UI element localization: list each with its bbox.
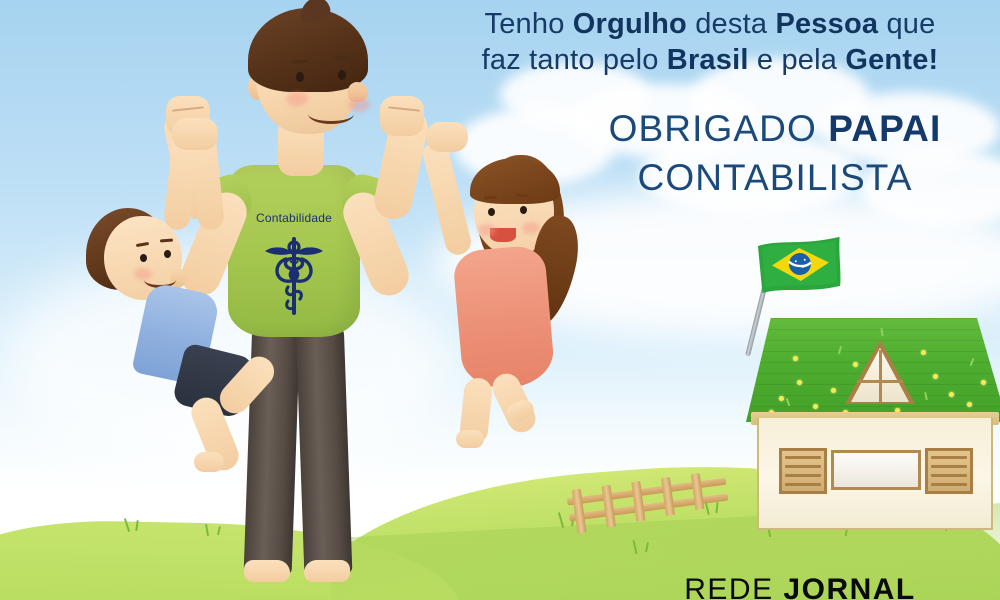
girl-foot-left — [456, 430, 484, 448]
subheadline-text: OBRIGADO PAPAI CONTABILISTA — [560, 104, 990, 202]
boy-blush — [134, 268, 152, 280]
girl-blush-left — [478, 224, 496, 236]
headline-line-2: faz tanto pelo Brasil e pela Gente! — [430, 42, 990, 78]
roof-flower — [981, 380, 986, 385]
roof-flower — [949, 392, 954, 397]
roof-flower — [793, 356, 798, 361]
father-mouth — [308, 104, 354, 124]
girl-blush-right — [522, 222, 540, 234]
shutter-slat — [931, 474, 967, 477]
headline-l1-bold-orgulho: Orgulho — [573, 8, 687, 40]
roof-flower — [967, 402, 972, 407]
father-blush-right — [348, 98, 370, 112]
headline-line-1: Tenho Orgulho desta Pessoa que — [430, 6, 990, 42]
father-leg-right — [296, 321, 353, 575]
headline-l1-bold-pessoa: Pessoa — [775, 8, 878, 40]
headline-l1-seg1: Tenho — [485, 8, 573, 40]
roof-flower — [853, 362, 858, 367]
headline-l1-seg2: desta — [687, 8, 775, 40]
father-eye-right — [338, 70, 346, 80]
family-illustration: Contabilidade — [60, 0, 550, 600]
house-shutter-left — [779, 448, 827, 494]
shutter-slat — [931, 483, 967, 486]
house-main-window — [831, 450, 921, 490]
girl-eye-right — [520, 206, 527, 214]
shutter-slat — [785, 474, 821, 477]
boy-eye-right — [164, 250, 171, 258]
caduceus-accounting-icon — [262, 231, 326, 317]
father-foot-left — [244, 560, 290, 582]
father-eye-left — [296, 72, 304, 82]
house-shutter-right — [925, 448, 973, 494]
roof-flower — [779, 396, 784, 401]
boy-hand-grip — [172, 118, 218, 150]
roof-flower — [813, 404, 818, 409]
boy-foot — [194, 452, 224, 472]
fence-post — [661, 477, 675, 516]
brand-jornal: JORNAL — [783, 573, 915, 600]
boy-eye-left — [140, 254, 147, 262]
shutter-slat — [785, 483, 821, 486]
roof-flower — [831, 388, 836, 393]
dormer-mullion-horizontal — [857, 380, 903, 383]
headline-l1-seg3: que — [878, 8, 935, 40]
roof-flower — [933, 374, 938, 379]
father-foot-right — [304, 560, 350, 582]
father-blush-left — [286, 92, 308, 106]
poster-canvas: Contabilidade — [0, 0, 1000, 600]
fence-post — [602, 485, 616, 528]
shutter-slat — [931, 456, 967, 459]
subheadline-obrigado: OBRIGADO — [609, 108, 829, 149]
girl-eye-left — [488, 208, 495, 216]
headline-l2-seg1: faz tanto pelo — [482, 44, 667, 76]
headline-text: Tenho Orgulho desta Pessoa que faz tanto… — [430, 6, 990, 78]
subheadline-line-1: OBRIGADO PAPAI — [560, 104, 990, 153]
headline-l2-bold-gente: Gente! — [845, 44, 938, 76]
fence-post — [631, 481, 645, 522]
roof-flower — [921, 350, 926, 355]
subheadline-line-2: CONTABILISTA — [560, 153, 990, 202]
girl-eyebrow-right — [516, 194, 529, 197]
house-illustration — [735, 300, 1000, 530]
girl-arm-raised — [420, 139, 473, 258]
father-hair — [248, 8, 368, 92]
headline-l2-seg2: e pela — [749, 44, 846, 76]
dormer-mullion-vertical — [879, 350, 882, 402]
brazil-flag-icon — [756, 234, 845, 296]
father-fist-right — [380, 96, 424, 136]
brand-logo-text: REDE JORNAL — [600, 574, 1000, 600]
shutter-slat — [785, 456, 821, 459]
headline-l2-bold-brasil: Brasil — [667, 44, 749, 76]
shutter-slat — [785, 465, 821, 468]
roof-flower — [797, 380, 802, 385]
girl-hand-grip — [426, 122, 468, 152]
girl-dress — [452, 244, 556, 391]
subheadline-papai: PAPAI — [828, 108, 941, 149]
shutter-slat — [931, 465, 967, 468]
brand-rede: REDE — [684, 573, 783, 600]
